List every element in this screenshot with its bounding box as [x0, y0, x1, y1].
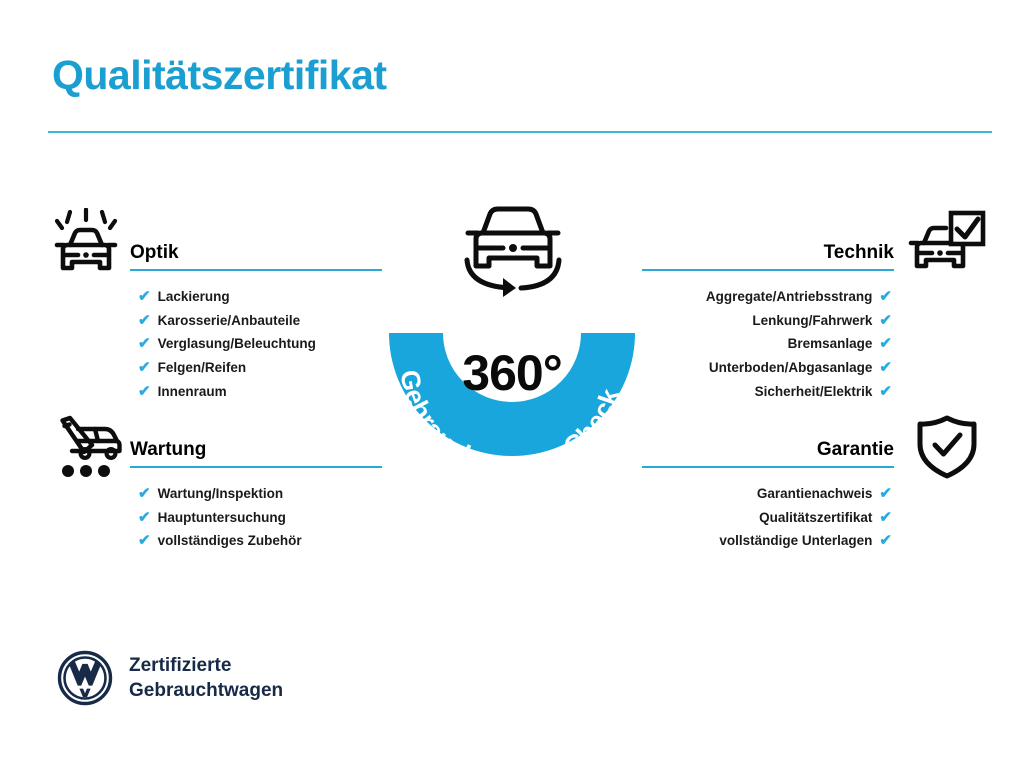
list-item: vollständige Unterlagen ✔: [642, 529, 892, 553]
arrow-head: [503, 278, 516, 297]
list-item: Qualitätszertifikat ✔: [642, 506, 892, 530]
list-item-label: Aggregate/Antriebsstrang: [706, 289, 873, 304]
technik-header: Technik: [642, 240, 894, 274]
optik-list: ✔ Lackierung ✔ Karosserie/Anbauteile ✔ V…: [130, 285, 382, 403]
car-front-headlights-icon: [48, 208, 124, 280]
list-item-label: Lackierung: [158, 289, 230, 304]
wartung-title: Wartung: [130, 437, 382, 463]
wartung-list: ✔ Wartung/Inspektion ✔ Hauptuntersuchung…: [130, 482, 382, 553]
section-optik: Optik ✔ Lackierung ✔ Karosserie/Anbautei…: [130, 240, 382, 403]
list-item-label: Innenraum: [158, 384, 227, 399]
list-item: Unterboden/Abgasanlage ✔: [642, 356, 892, 380]
check-icon: ✔: [879, 384, 892, 399]
car-rotate-360-icon: [455, 196, 571, 301]
list-item: Lenkung/Fahrwerk ✔: [642, 309, 892, 333]
garantie-list: Garantienachweis ✔ Qualitätszertifikat ✔…: [642, 482, 894, 553]
list-item-label: Hauptuntersuchung: [158, 510, 286, 525]
list-item: ✔ Felgen/Reifen: [138, 356, 382, 380]
list-item-label: Garantienachweis: [757, 486, 873, 501]
check-icon: ✔: [879, 313, 892, 328]
vw-logo-text: Zertifizierte Gebrauchtwagen: [129, 653, 283, 703]
check-icon: ✔: [138, 486, 151, 501]
list-item-label: Unterboden/Abgasanlage: [709, 360, 873, 375]
vw-logo-line1: Zertifizierte: [129, 653, 283, 678]
garantie-divider: [642, 466, 894, 468]
technik-list: Aggregate/Antriebsstrang ✔ Lenkung/Fahrw…: [642, 285, 894, 403]
check-icon: ✔: [138, 313, 151, 328]
check-icon: ✔: [138, 533, 151, 548]
garantie-icon-wrapper: [915, 414, 979, 480]
list-item-label: Wartung/Inspektion: [158, 486, 284, 501]
emblem-dot: [83, 252, 89, 258]
page-title: Qualitätszertifikat: [52, 52, 387, 99]
list-item-label: Lenkung/Fahrwerk: [752, 313, 872, 328]
check-icon: ✔: [138, 384, 151, 399]
pen-car-service-icon: [48, 414, 124, 480]
list-item: Aggregate/Antriebsstrang ✔: [642, 285, 892, 309]
wartung-divider: [130, 466, 382, 468]
section-technik: Technik Aggregate/Antriebsstrang ✔ Lenku…: [642, 240, 894, 403]
technik-title: Technik: [642, 240, 894, 266]
section-garantie: Garantie Garantienachweis ✔ Qualitätszer…: [642, 437, 894, 553]
list-item-label: Qualitätszertifikat: [759, 510, 872, 525]
badge-center-text: 360°: [375, 344, 649, 402]
list-item: ✔ Karosserie/Anbauteile: [138, 309, 382, 333]
section-wartung: Wartung ✔ Wartung/Inspektion ✔ Hauptunte…: [130, 437, 382, 553]
wartung-icon-wrapper: [48, 414, 124, 480]
garantie-title: Garantie: [642, 437, 894, 463]
list-item-label: Felgen/Reifen: [158, 360, 247, 375]
check-icon: ✔: [138, 360, 151, 375]
check-icon: ✔: [879, 533, 892, 548]
vw-logo: [57, 650, 113, 706]
optik-title: Optik: [130, 240, 382, 266]
badge-car-icon-wrapper: [455, 196, 571, 301]
check-icon: ✔: [879, 289, 892, 304]
check-icon: ✔: [879, 486, 892, 501]
check-icon: ✔: [879, 336, 892, 351]
list-item: ✔ Innenraum: [138, 379, 382, 403]
checkmark-glyph: [935, 435, 960, 454]
vw-logo-line2: Gebrauchtwagen: [129, 678, 283, 703]
technik-icon-wrapper: [908, 208, 986, 280]
check-icon: ✔: [879, 510, 892, 525]
technik-divider: [642, 269, 894, 271]
optik-icon-wrapper: [48, 208, 124, 280]
list-item: ✔ vollständiges Zubehör: [138, 529, 382, 553]
check-icon: ✔: [138, 510, 151, 525]
list-item-label: Karosserie/Anbauteile: [158, 313, 301, 328]
optik-header: Optik: [130, 240, 382, 274]
list-item-label: Sicherheit/Elektrik: [755, 384, 873, 399]
shield-check-icon: [915, 414, 979, 480]
list-item-label: Verglasung/Beleuchtung: [158, 336, 316, 351]
list-item: ✔ Verglasung/Beleuchtung: [138, 332, 382, 356]
list-item-label: vollständiges Zubehör: [158, 533, 302, 548]
check-icon: ✔: [138, 336, 151, 351]
list-item: Sicherheit/Elektrik ✔: [642, 379, 892, 403]
list-item: ✔ Wartung/Inspektion: [138, 482, 382, 506]
service-dots: [62, 465, 110, 477]
check-icon: ✔: [138, 289, 151, 304]
list-item: Bremsanlage ✔: [642, 332, 892, 356]
wartung-header: Wartung: [130, 437, 382, 471]
garantie-header: Garantie: [642, 437, 894, 471]
check-icon: ✔: [879, 360, 892, 375]
list-item: Garantienachweis ✔: [642, 482, 892, 506]
vw-certified-logo-block: Zertifizierte Gebrauchtwagen: [57, 650, 283, 706]
list-item: ✔ Lackierung: [138, 285, 382, 309]
optik-divider: [130, 269, 382, 271]
list-item-label: Bremsanlage: [788, 336, 873, 351]
title-divider: [48, 131, 992, 133]
list-item: ✔ Hauptuntersuchung: [138, 506, 382, 530]
car-checkbox-icon: [908, 208, 986, 280]
list-item-label: vollständige Unterlagen: [719, 533, 872, 548]
